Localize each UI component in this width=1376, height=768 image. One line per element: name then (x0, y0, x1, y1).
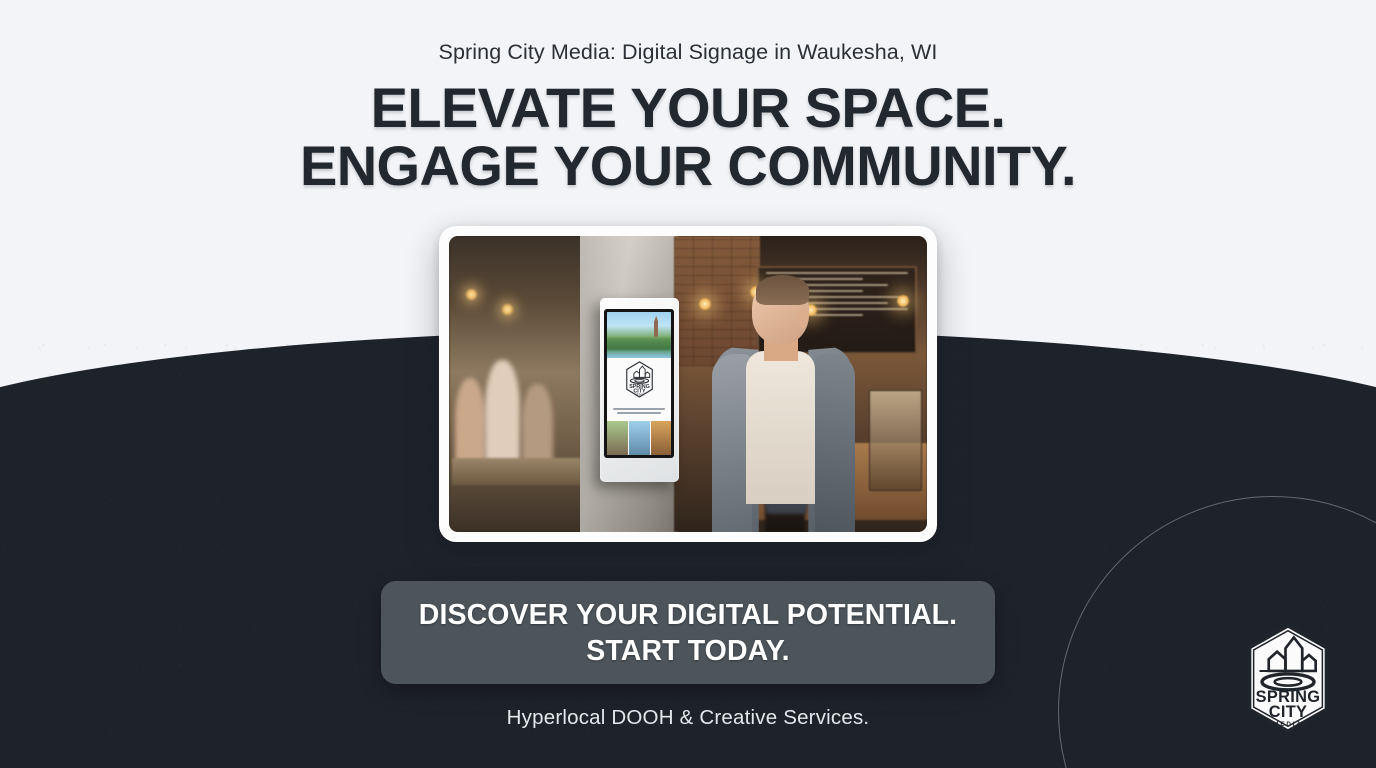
church-steeple-icon (654, 316, 658, 337)
kiosk-thumbnail (607, 421, 628, 455)
cafe-scene: SPRING CITY MEDIA (449, 236, 927, 532)
digital-signage-kiosk: SPRING CITY MEDIA (600, 298, 679, 482)
seated-patron (522, 384, 552, 467)
cafe-table (452, 458, 585, 485)
pendant-light-icon (502, 304, 513, 315)
seated-patron (455, 378, 485, 467)
person-viewing-kiosk (712, 277, 855, 532)
eyebrow-text: Spring City Media: Digital Signage in Wa… (0, 40, 1376, 65)
logo-line-city: CITY (1269, 703, 1308, 721)
kiosk-hero-image (607, 312, 671, 358)
footer-tagline: Hyperlocal DOOH & Creative Services. (0, 706, 1376, 730)
pendant-light-icon (466, 289, 477, 300)
cta-line-2: START TODAY. (419, 633, 957, 669)
pastry-display-case (869, 390, 922, 491)
inner-tee (746, 351, 815, 504)
hero-photo-card: SPRING CITY MEDIA (439, 226, 937, 542)
headline-line-2: ENGAGE YOUR COMMUNITY. (0, 137, 1376, 195)
seated-patron (485, 360, 520, 467)
kiosk-thumbnail (651, 421, 672, 455)
hero-photo: SPRING CITY MEDIA (449, 236, 927, 532)
cta-line-1: DISCOVER YOUR DIGITAL POTENTIAL. (419, 597, 957, 633)
page-title: ELEVATE YOUR SPACE. ENGAGE YOUR COMMUNIT… (0, 79, 1376, 195)
spring-city-media-logo-icon: SPRING CITY MEDIA (621, 361, 658, 398)
pendant-light-icon (897, 295, 909, 307)
ear (798, 308, 808, 328)
brand-logo-badge: SPRING CITY MEDIA (1246, 624, 1330, 733)
kiosk-body-copy (607, 401, 671, 421)
tree-line (607, 338, 671, 350)
cta-banner[interactable]: DISCOVER YOUR DIGITAL POTENTIAL. START T… (381, 581, 995, 684)
kiosk-screen: SPRING CITY MEDIA (607, 312, 671, 455)
headline-line-1: ELEVATE YOUR SPACE. (0, 79, 1376, 137)
cafe-seating-area (449, 236, 588, 532)
kiosk-bezel: SPRING CITY MEDIA (604, 309, 674, 458)
logo-line-media: MEDIA (1273, 721, 1302, 728)
hair (756, 275, 809, 306)
shirt-sleeve (815, 354, 855, 532)
cta-text: DISCOVER YOUR DIGITAL POTENTIAL. START T… (419, 597, 957, 669)
kiosk-thumbnail (629, 421, 650, 455)
kiosk-logo-line-2: CITY (633, 388, 646, 394)
poster-canvas: Spring City Media: Digital Signage in Wa… (0, 0, 1376, 768)
kiosk-thumbnail-strip (607, 421, 671, 455)
kiosk-logo-area: SPRING CITY MEDIA (607, 358, 671, 401)
